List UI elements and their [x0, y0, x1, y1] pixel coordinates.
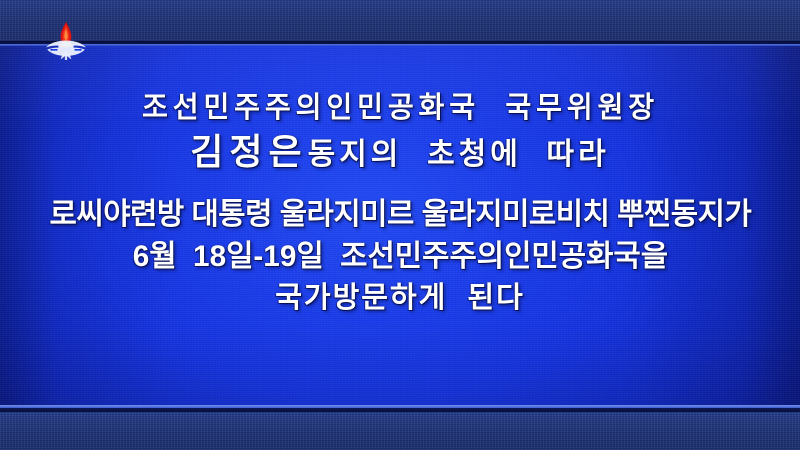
letterbox-band-bottom: [0, 412, 800, 450]
broadcast-screen: 조선민주주의인민공화국 국무위원장 김정은동지의 초청에 따라 로씨야련방 대통…: [0, 0, 800, 450]
caption-block: 조선민주주의인민공화국 국무위원장 김정은동지의 초청에 따라 로씨야련방 대통…: [0, 46, 800, 406]
caption-line-3: 로씨야련방 대통령 울라지미르 울라지미로비치 뿌찐동지가: [49, 200, 751, 230]
caption-line-5: 국가방문하게 된다: [275, 284, 525, 313]
caption-line-1: 조선민주주의인민공화국 국무위원장: [141, 94, 658, 123]
caption-line-2-lead: 김정은: [190, 131, 307, 172]
caption-line-2-rest: 동지의 초청에 따라: [308, 138, 610, 171]
caption-line-4: 6월 18일-19일 조선민주주의인민공화국을: [132, 242, 667, 272]
letterbox-band-top: [0, 0, 800, 42]
caption-line-2: 김정은동지의 초청에 따라: [190, 134, 610, 170]
